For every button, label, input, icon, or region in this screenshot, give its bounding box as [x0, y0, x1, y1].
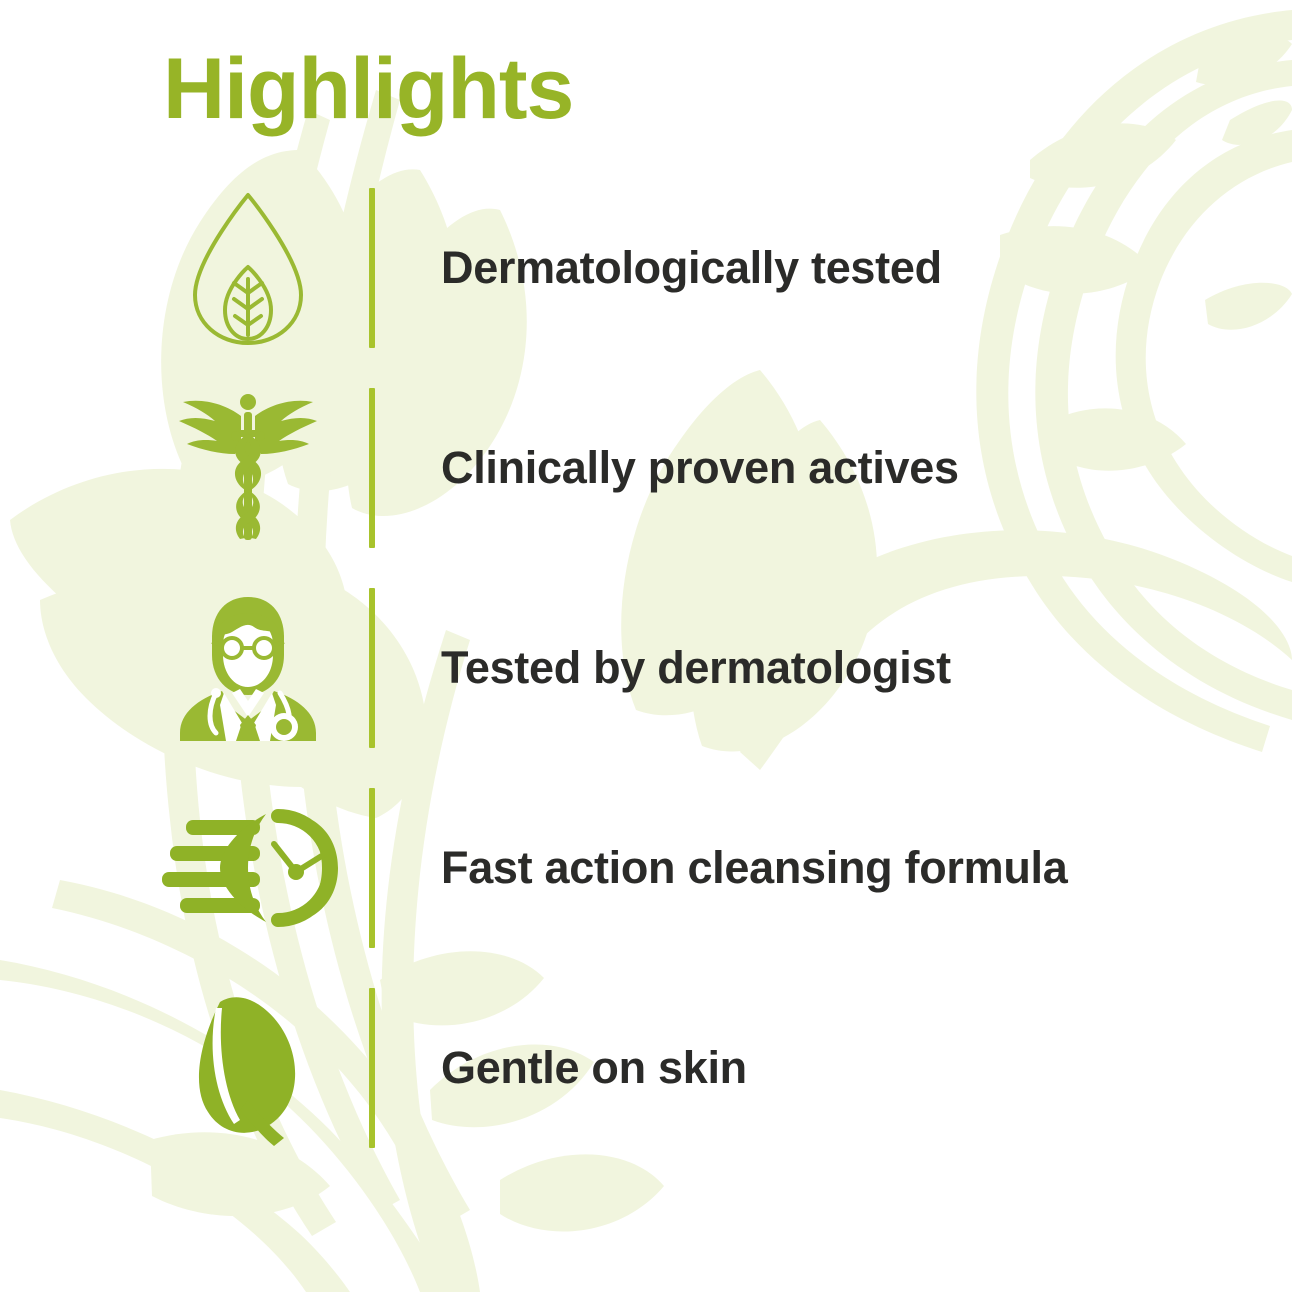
caduceus-icon [150, 383, 345, 553]
highlight-row: Tested by dermatologist [150, 568, 1270, 768]
highlight-row: Fast action cleansing formula [150, 768, 1270, 968]
highlight-label: Fast action cleansing formula [375, 842, 1270, 894]
doctor-icon [150, 583, 345, 753]
highlight-label: Tested by dermatologist [375, 642, 1270, 694]
highlights-page: Highlights Dermatologically tested [0, 0, 1292, 1292]
highlight-label: Dermatologically tested [375, 242, 1270, 294]
highlight-label: Clinically proven actives [375, 442, 1270, 494]
fast-clock-icon [150, 783, 345, 953]
page-title: Highlights [163, 46, 573, 132]
water-drop-leaf-icon [150, 183, 345, 353]
highlight-row: Dermatologically tested [150, 168, 1270, 368]
highlight-row: Clinically proven actives [150, 368, 1270, 568]
leaf-icon [150, 983, 345, 1153]
highlight-label: Gentle on skin [375, 1042, 1270, 1094]
highlight-row: Gentle on skin [150, 968, 1270, 1168]
